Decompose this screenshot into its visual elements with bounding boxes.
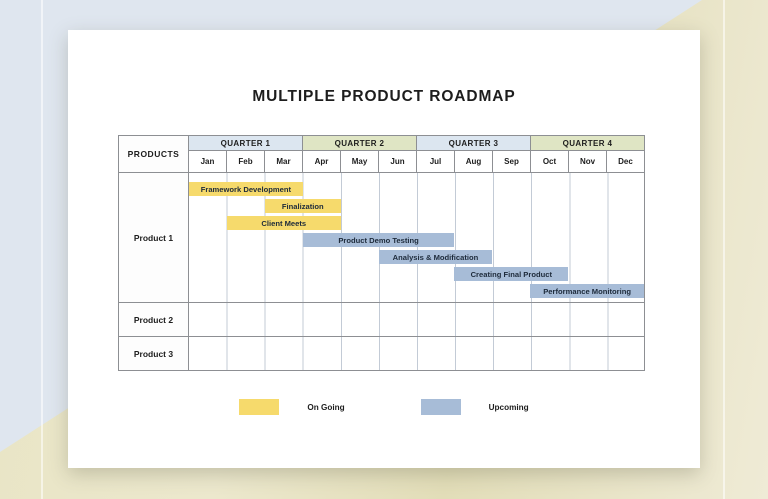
quarter-header-q3: QUARTER 3 [417,136,531,151]
legend-item-ongoing: On Going [239,399,344,415]
table-row: Product 2 [119,303,645,337]
legend-swatch-upcoming [421,399,461,415]
quarter-header-q2: QUARTER 2 [303,136,417,151]
month-header-sep: Sep [493,151,531,173]
page-title: MULTIPLE PRODUCT ROADMAP [68,88,700,106]
month-header-aug: Aug [455,151,493,173]
gantt-bar[interactable]: Performance Monitoring [530,284,644,298]
gantt-bar[interactable]: Framework Development [189,182,303,196]
document-sheet: MULTIPLE PRODUCT ROADMAP PRODUCTS QUARTE… [68,30,700,468]
gantt-bar[interactable]: Product Demo Testing [303,233,455,247]
roadmap-table: PRODUCTS QUARTER 1 QUARTER 2 QUARTER 3 Q… [118,135,645,371]
products-column-header: PRODUCTS [119,136,189,173]
month-header-jun: Jun [379,151,417,173]
gantt-bar[interactable]: Finalization [265,199,341,213]
gantt-chart-area: Framework DevelopmentFinalizationClient … [189,173,645,303]
gantt-bar[interactable]: Creating Final Product [454,267,568,281]
product-label-2: Product 2 [119,303,189,337]
quarter-header-row: PRODUCTS QUARTER 1 QUARTER 2 QUARTER 3 Q… [119,136,645,151]
legend-label-ongoing: On Going [307,403,344,412]
quarter-header-q1: QUARTER 1 [189,136,303,151]
month-header-nov: Nov [569,151,607,173]
product-label-1: Product 1 [119,173,189,303]
month-header-mar: Mar [265,151,303,173]
roadmap-table-body: Product 1 Framework DevelopmentFinalizat… [119,173,645,371]
table-row: Product 1 Framework DevelopmentFinalizat… [119,173,645,303]
gantt-bar[interactable]: Client Meets [227,216,341,230]
legend-item-upcoming: Upcoming [421,399,529,415]
legend-label-upcoming: Upcoming [489,403,529,412]
gantt-bar[interactable]: Analysis & Modification [379,250,493,264]
month-header-oct: Oct [531,151,569,173]
month-header-dec: Dec [607,151,645,173]
legend: On Going Upcoming [68,399,700,415]
roadmap-table-header: PRODUCTS QUARTER 1 QUARTER 2 QUARTER 3 Q… [119,136,645,173]
month-header-apr: Apr [303,151,341,173]
month-header-row: Jan Feb Mar Apr May Jun Jul Aug Sep Oct … [119,151,645,173]
product-label-3: Product 3 [119,337,189,371]
month-header-may: May [341,151,379,173]
legend-swatch-ongoing [239,399,279,415]
gantt-empty-area-product-3 [189,337,645,371]
fold-line-left [41,0,43,499]
table-row: Product 3 [119,337,645,371]
gantt-empty-area-product-2 [189,303,645,337]
quarter-header-q4: QUARTER 4 [531,136,645,151]
fold-line-right [723,0,725,499]
month-header-feb: Feb [227,151,265,173]
month-header-jul: Jul [417,151,455,173]
month-header-jan: Jan [189,151,227,173]
